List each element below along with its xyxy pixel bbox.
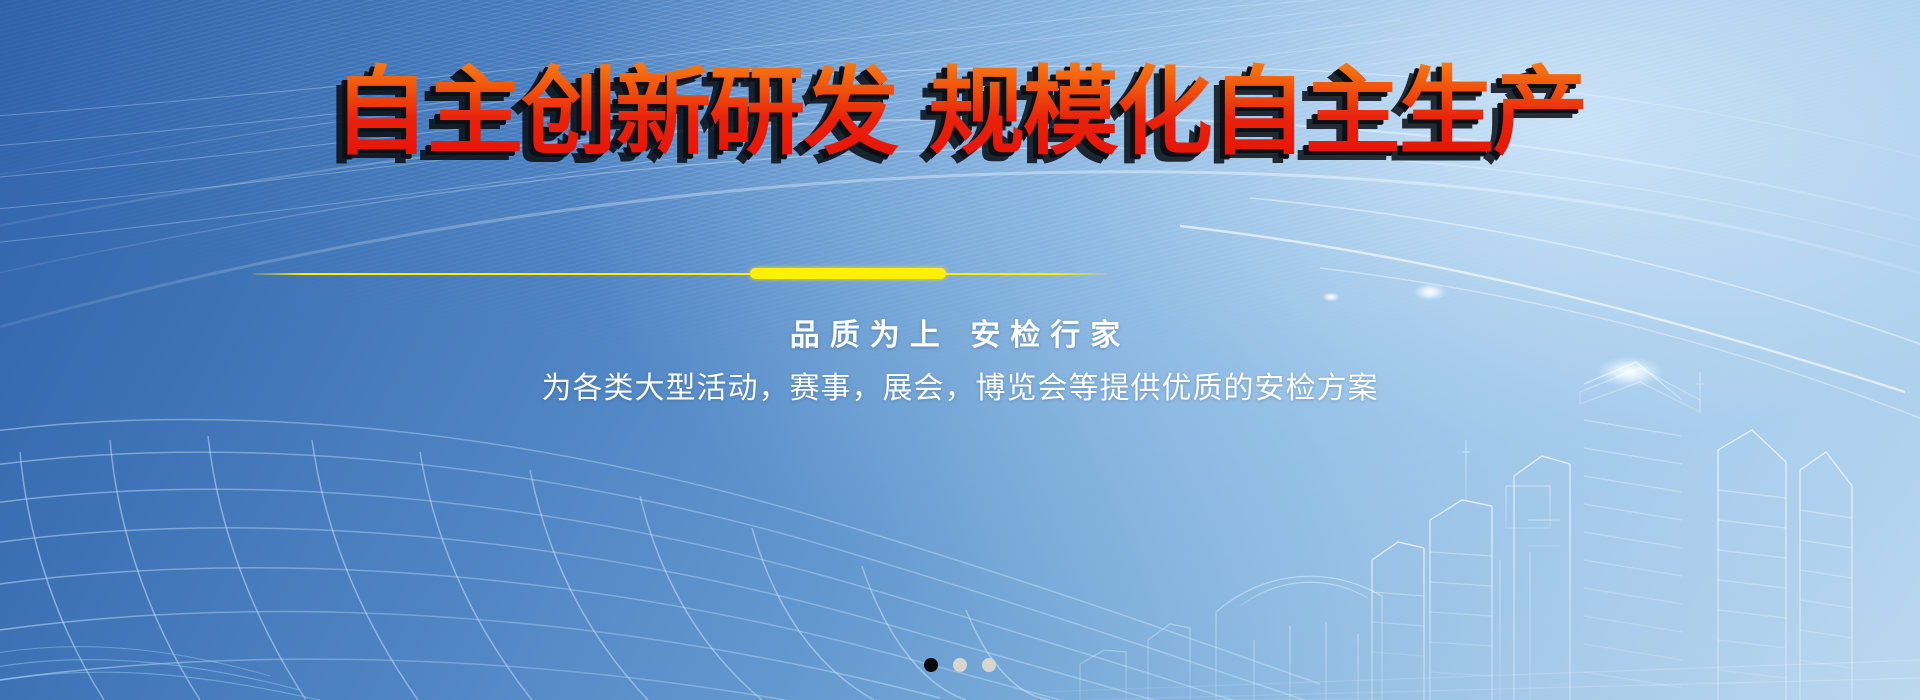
carousel-dot-2[interactable]	[953, 658, 967, 672]
building-low-blocks	[1080, 586, 1240, 700]
building-main-tower	[1580, 300, 1700, 700]
divider-core-segment	[750, 268, 946, 279]
subtitle-tagline: 品质为上 安检行家	[0, 310, 1920, 354]
glow-node-medium	[1413, 283, 1447, 301]
divider-hairline	[253, 273, 1107, 275]
headline-container: 自主创新研发 规模化自主生产	[0, 62, 1920, 163]
glow-node-small	[1322, 292, 1340, 302]
building-twin-towers	[1718, 356, 1852, 700]
building-spire-group	[1352, 372, 1704, 660]
bottom-ripple-band	[0, 647, 320, 700]
carousel-dot-1[interactable]	[924, 658, 938, 672]
city-skyline-wireframe	[1040, 300, 1920, 700]
building-low-arched-hall	[1216, 576, 1382, 700]
hero-banner: 自主创新研发 规模化自主生产 品质为上 安检行家 为各类大型活动，赛事，展会，博…	[0, 0, 1920, 700]
carousel-pagination[interactable]	[0, 658, 1920, 672]
page-title: 自主创新研发 规模化自主生产	[333, 62, 1586, 163]
yellow-accent-divider	[253, 268, 1107, 280]
description-text: 为各类大型活动，赛事，展会，博览会等提供优质的安检方案	[0, 363, 1920, 407]
carousel-dot-3[interactable]	[982, 658, 996, 672]
